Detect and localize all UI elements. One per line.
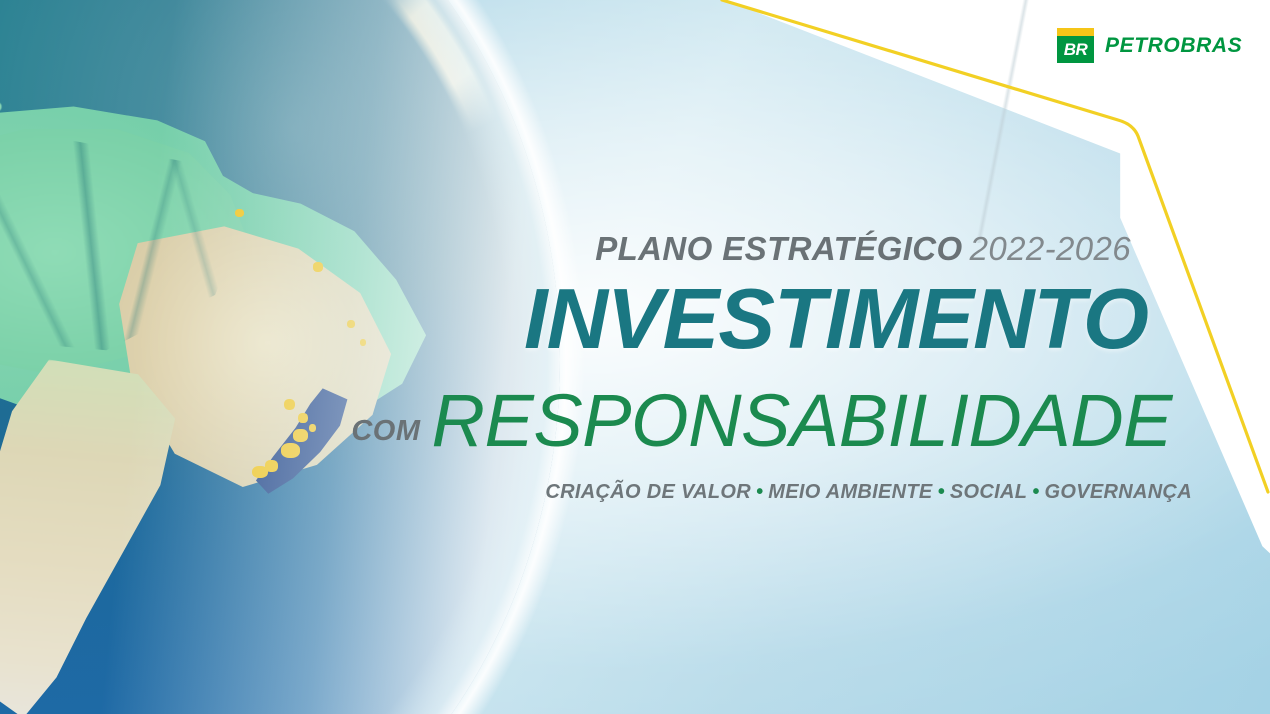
- br-mark-icon: BR: [1057, 28, 1094, 63]
- earth-globe: [0, 0, 560, 714]
- br-yellow-bar: [1057, 28, 1094, 36]
- petrobras-logo[interactable]: BR PETROBRAS: [1057, 28, 1242, 63]
- br-letters: BR: [1057, 39, 1094, 60]
- poster-canvas: BR PETROBRAS PLANO ESTRATÉGICO2022-2026 …: [0, 0, 1270, 714]
- coastline-sand-rim: [0, 0, 560, 714]
- petrobras-wordmark: PETROBRAS: [1105, 34, 1242, 58]
- globe-sphere: [0, 0, 560, 714]
